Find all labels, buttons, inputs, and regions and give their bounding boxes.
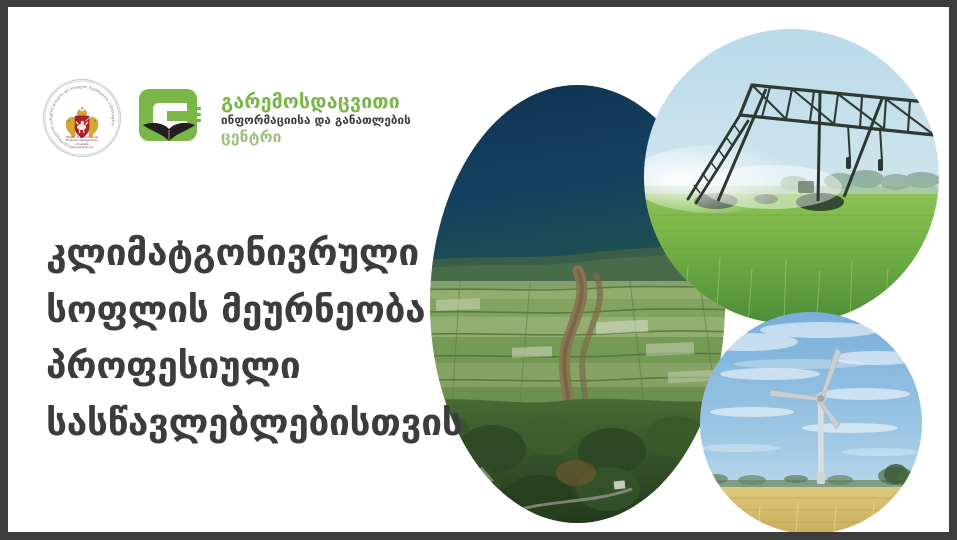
headline-line-1: კლიმატგონივრული <box>46 225 466 282</box>
logo-wordmark: გარემოსდაცვითი ინფორმაციისა და განათლები… <box>221 91 411 146</box>
page-title: კლიმატგონივრული სოფლის მეურნეობა პროფესი… <box>46 225 466 451</box>
eiec-logo-mark <box>137 87 203 149</box>
photo-irrigation-sprinkler-wheat-field <box>644 29 939 324</box>
photo-aerial-rural-landscape <box>430 85 725 523</box>
branding-lockup: საქართველოს გარემოს დაცვისა და სოფლის მე… <box>43 79 411 157</box>
photo-wind-turbine-golden-field <box>700 312 922 532</box>
poster-frame: საქართველოს გარემოს დაცვისა და სოფლის მე… <box>0 0 957 540</box>
headline-line-4: სასწავლებლებისთვის <box>46 395 466 452</box>
headline-line-2: სოფლის მეურნეობა <box>46 282 466 339</box>
poster-canvas: საქართველოს გარემოს დაცვისა და სოფლის მე… <box>8 7 949 532</box>
logo-wordmark-line-3: ცენტრი <box>221 128 411 146</box>
headline-line-3: პროფესიული <box>46 338 466 395</box>
logo-wordmark-line-2: ინფორმაციისა და განათლების <box>221 113 411 128</box>
seal-caption: Ministry of Environmental Protection and… <box>44 136 120 150</box>
logo-wordmark-line-1: გარემოსდაცვითი <box>221 91 411 113</box>
seal-caption-line: www.mepa.gov.ge <box>44 146 120 149</box>
ministry-seal-emblem: საქართველოს გარემოს დაცვისა და სოფლის მე… <box>43 79 121 157</box>
